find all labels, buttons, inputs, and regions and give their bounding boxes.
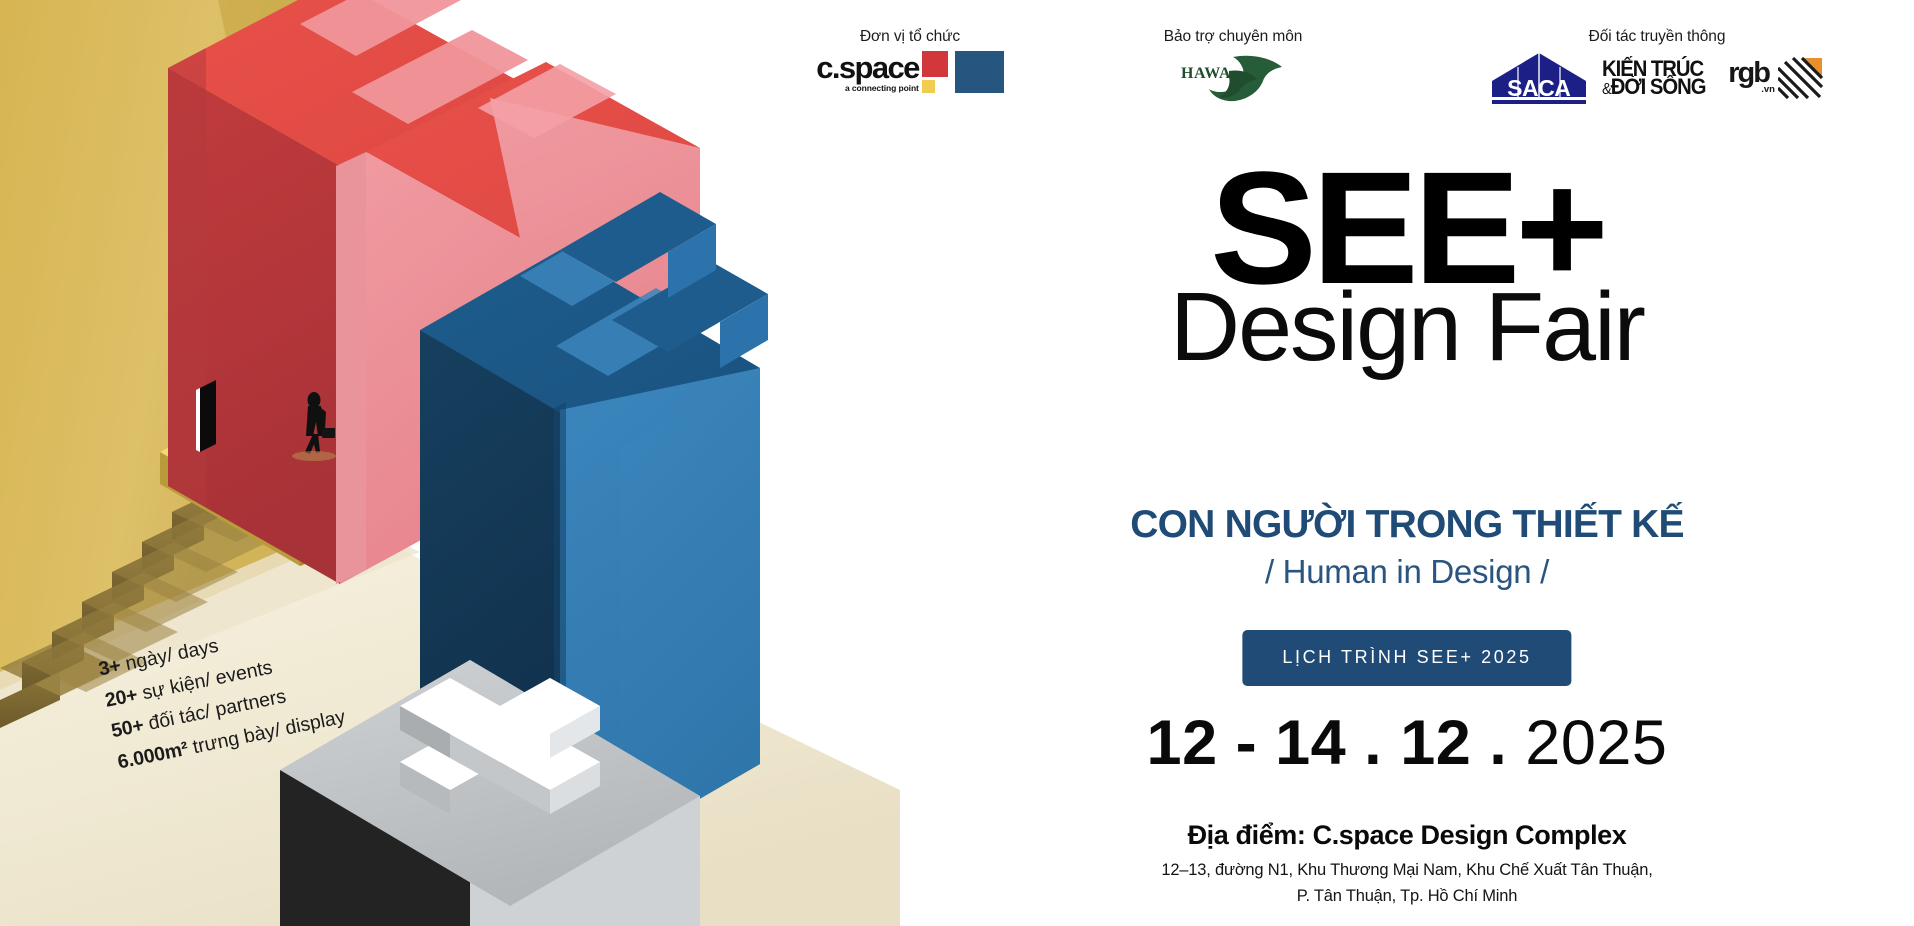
- cspace-logo[interactable]: c.space a connecting point: [816, 51, 1004, 93]
- partner-group-caption: Đối tác truyền thông: [1400, 28, 1914, 46]
- schedule-button[interactable]: LỊCH TRÌNH SEE+ 2025: [1242, 630, 1571, 686]
- hawa-wordmark: HAWA: [1181, 65, 1231, 83]
- cspace-color-blocks: [922, 51, 1004, 93]
- saca-wordmark: SACA: [1490, 75, 1588, 102]
- tagline-english: / Human in Design /: [900, 554, 1914, 590]
- doisong-text: ĐỜI SỐNG: [1611, 74, 1706, 99]
- rgb-logo[interactable]: rgb .vn: [1728, 55, 1824, 101]
- partner-group-caption: Bảo trợ chuyên môn: [1098, 28, 1368, 46]
- rgb-suffix: .vn: [1761, 84, 1775, 95]
- partner-group-media: Đối tác truyền thông SACA: [1400, 28, 1914, 105]
- tagline-vietnamese: CON NGƯỜI TRONG THIẾT KẾ: [900, 505, 1914, 546]
- content-panel: Đơn vị tổ chức c.space a connecting poin…: [900, 0, 1914, 926]
- ampersand-glyph: &: [1602, 81, 1611, 98]
- saca-logo[interactable]: SACA: [1490, 51, 1588, 105]
- partner-group-sponsor: Bảo trợ chuyên môn HAWA: [1098, 28, 1368, 103]
- page-subtitle: Design Fair: [900, 278, 1914, 375]
- isometric-illustration: 3+ ngày/ days 20+ sự kiện/ events 50+ đố…: [0, 0, 900, 926]
- venue-address-line2: P. Tân Thuận, Tp. Hồ Chí Minh: [1297, 887, 1517, 905]
- poster-root: 3+ ngày/ days 20+ sự kiện/ events 50+ đố…: [0, 0, 1914, 926]
- kientruc-doisong-logo[interactable]: KIẾN TRÚC &ĐỜI SỐNG: [1602, 60, 1714, 97]
- partner-strip: Đơn vị tổ chức c.space a connecting poin…: [780, 28, 1914, 123]
- date-year: 2025: [1525, 708, 1667, 778]
- event-date: 12 - 14 . 12 . 2025: [900, 712, 1914, 775]
- cspace-wordmark: c.space: [816, 53, 919, 82]
- illustration-svg: [0, 0, 900, 926]
- rgb-stripes-icon: [1778, 56, 1824, 100]
- venue-title: Địa điểm: C.space Design Complex: [900, 820, 1914, 851]
- date-range: 12 - 14 . 12 .: [1147, 708, 1526, 778]
- venue-address-line1: 12–13, đường N1, Khu Thương Mại Nam, Khu…: [1161, 861, 1652, 879]
- partner-group-organizer: Đơn vị tổ chức c.space a connecting poin…: [780, 28, 1040, 93]
- hawa-logo[interactable]: HAWA: [1179, 51, 1287, 103]
- venue-address: 12–13, đường N1, Khu Thương Mại Nam, Khu…: [900, 858, 1914, 909]
- partner-group-caption: Đơn vị tổ chức: [780, 28, 1040, 46]
- kientruc-line2: &ĐỜI SỐNG: [1602, 78, 1705, 96]
